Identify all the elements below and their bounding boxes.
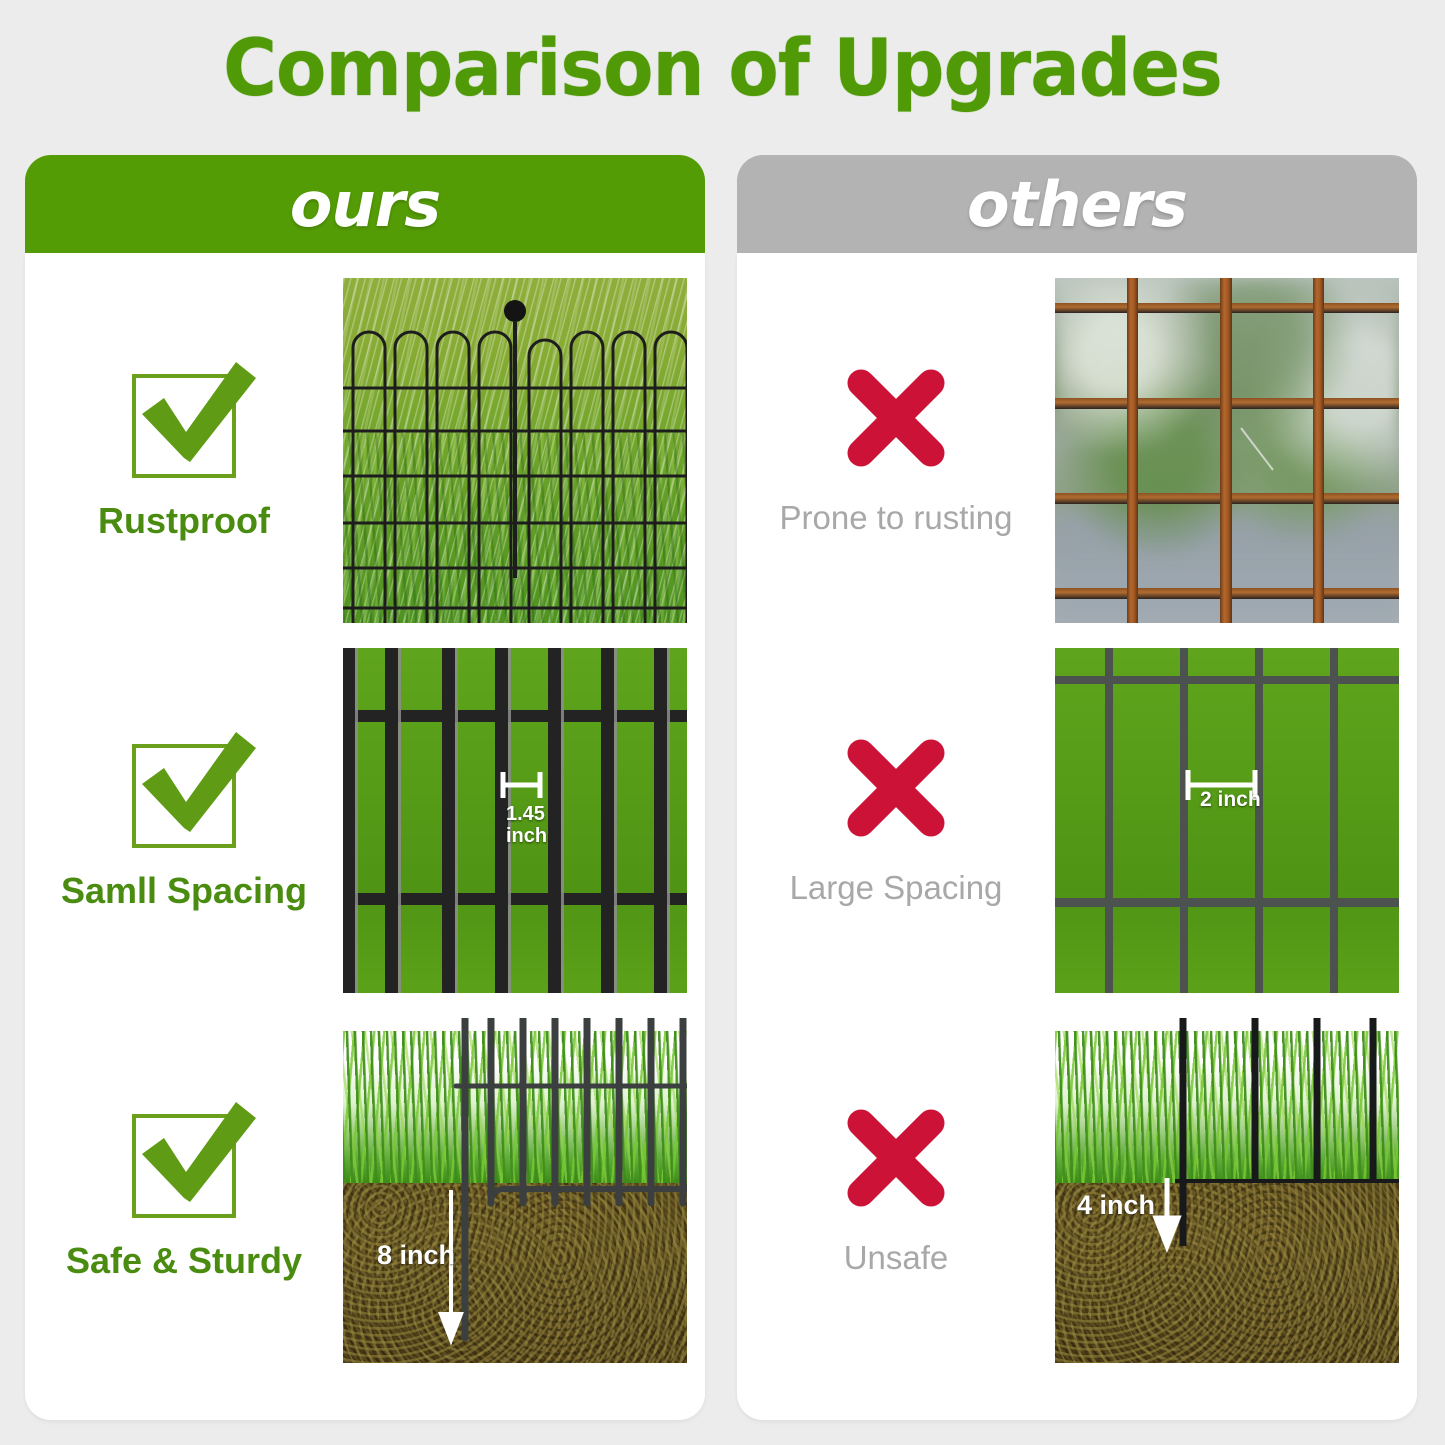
column-ours: ours Rustproof	[25, 155, 705, 1420]
check-icon	[124, 728, 244, 848]
dimension-2-inch: 2 inch	[1200, 788, 1261, 812]
x-icon	[841, 733, 951, 843]
feature-row-safe-sturdy: Safe & Sturdy	[25, 1005, 705, 1375]
rusty-grid-graphic	[1055, 278, 1399, 623]
check-mark-glyph	[138, 728, 258, 848]
feature-label-group-small-spacing: Samll Spacing	[25, 728, 343, 912]
feature-label-large-spacing: Large Spacing	[790, 869, 1003, 907]
feature-label-group-rustproof: Rustproof	[25, 358, 343, 542]
feature-label-rustproof: Rustproof	[98, 500, 270, 542]
deep-stake-fence-graphic	[343, 1018, 687, 1363]
feature-row-prone-to-rusting: Prone to rusting	[737, 265, 1417, 635]
loop-top-fence-graphic	[343, 278, 687, 623]
column-body-others: Prone to rusting	[737, 253, 1417, 1420]
wide-spacing-backdrop: 2 inch	[1055, 648, 1399, 993]
page-title: Comparison of Upgrades	[43, 24, 1401, 114]
column-body-ours: Rustproof	[25, 253, 705, 1420]
column-header-ours-label: ours	[290, 168, 440, 241]
feature-row-unsafe: Unsafe	[737, 1005, 1417, 1375]
feature-row-large-spacing: Large Spacing	[737, 635, 1417, 1005]
column-header-others: others	[737, 155, 1417, 253]
wide-spacing-photo: 2 inch	[1055, 648, 1399, 993]
check-icon	[124, 358, 244, 478]
rusty-mesh-photo	[1055, 278, 1399, 623]
shallow-stake-soil-photo: 4 inch	[1055, 1018, 1399, 1363]
feature-label-group-large-spacing: Large Spacing	[737, 733, 1055, 907]
dimension-arrow-4-inch	[1156, 1178, 1178, 1246]
feature-label-group-unsafe: Unsafe	[737, 1103, 1055, 1277]
rusty-mesh-backdrop	[1055, 278, 1399, 623]
check-mark-glyph	[138, 1098, 258, 1218]
narrow-spacing-backdrop: 1.45 inch	[343, 648, 687, 993]
deep-stake-soil-photo: 8 inch	[343, 1018, 687, 1363]
column-header-ours: ours	[25, 155, 705, 253]
column-header-others-label: others	[967, 168, 1187, 241]
dimension-1-45-inch: 1.45 inch	[506, 803, 547, 848]
check-mark-glyph	[138, 358, 258, 478]
highlight-streak	[1241, 428, 1273, 470]
feature-label-group-safe-sturdy: Safe & Sturdy	[25, 1098, 343, 1282]
dimension-4-inch: 4 inch	[1077, 1190, 1155, 1220]
rain-grass-backdrop	[343, 278, 687, 623]
column-others: others Prone to rusting	[737, 155, 1417, 1420]
feature-label-group-prone-to-rusting: Prone to rusting	[737, 363, 1055, 537]
gate-finial	[504, 300, 526, 322]
x-icon	[841, 1103, 951, 1213]
feature-label-prone-to-rusting: Prone to rusting	[780, 499, 1013, 537]
comparison-infographic: Comparison of Upgrades ours Rustproof	[0, 0, 1445, 1445]
check-icon	[124, 1098, 244, 1218]
feature-label-unsafe: Unsafe	[844, 1239, 949, 1277]
feature-row-small-spacing: Samll Spacing	[25, 635, 705, 1005]
feature-label-small-spacing: Samll Spacing	[61, 870, 307, 912]
narrow-spacing-photo: 1.45 inch	[343, 648, 687, 993]
feature-label-safe-sturdy: Safe & Sturdy	[66, 1240, 302, 1282]
feature-row-rustproof: Rustproof	[25, 265, 705, 635]
fence-in-rain-photo	[343, 278, 687, 623]
x-icon	[841, 363, 951, 473]
dimension-8-inch: 8 inch	[377, 1240, 455, 1270]
wide-bars-graphic	[1055, 648, 1399, 993]
